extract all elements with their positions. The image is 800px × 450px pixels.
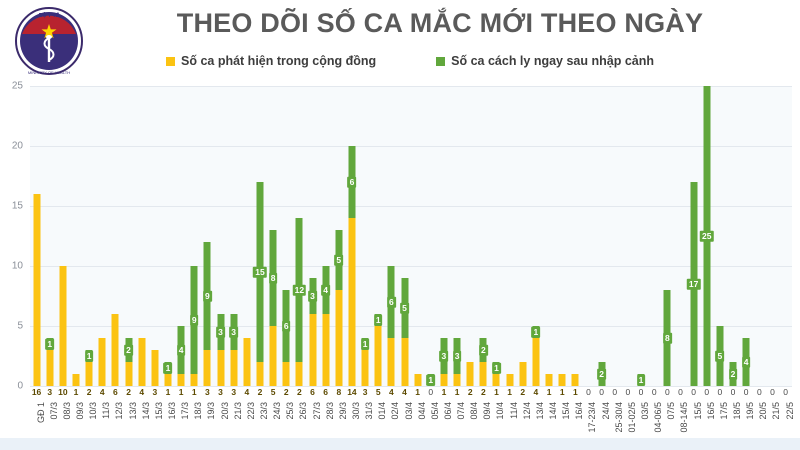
bar-value-label-quarantine: 9 [190, 315, 199, 326]
legend-label-community: Số ca phát hiện trong cộng đồng [181, 54, 376, 68]
bar-value-label-community: 1 [542, 386, 555, 398]
bar-segment-quarantine[interactable]: 3 [309, 278, 316, 314]
bar-column[interactable]: 3 [227, 86, 240, 386]
bar-stack[interactable]: 8 [664, 290, 671, 386]
bar-column[interactable] [135, 86, 148, 386]
bar-value-label-community: 2 [122, 386, 135, 398]
bar-segment-quarantine[interactable]: 6 [388, 266, 395, 338]
bar-segment-quarantine[interactable]: 1 [362, 338, 369, 350]
bar-value-label-community: 0 [687, 386, 700, 398]
bar-value-label-quarantine: 25 [700, 231, 713, 242]
footer-band [0, 438, 800, 450]
bar-value-label-quarantine: 1 [426, 375, 435, 386]
logo-text-bottom: MINISTRY OF HEALTH [28, 70, 70, 75]
bar-column[interactable]: 15 [253, 86, 266, 386]
bar-segment-quarantine[interactable]: 9 [204, 242, 211, 350]
bar-value-label-quarantine: 2 [479, 345, 488, 356]
bar-column[interactable]: 1 [490, 86, 503, 386]
bar-segment-community[interactable] [572, 374, 579, 386]
bar-value-label-community: 0 [621, 386, 634, 398]
bar-segment-community[interactable] [164, 374, 171, 386]
bar-stack[interactable]: 6 [388, 266, 395, 386]
y-axis: 0510152025 [0, 86, 26, 386]
bar-column[interactable] [542, 86, 555, 386]
bar-column[interactable] [30, 86, 43, 386]
bar-value-label-quarantine: 1 [164, 363, 173, 374]
bar-column[interactable] [96, 86, 109, 386]
bar-segment-community[interactable] [388, 338, 395, 386]
bar-value-label-quarantine: 9 [203, 291, 212, 302]
bar-value-label-community: 1 [69, 386, 82, 398]
bar-segment-community[interactable] [309, 314, 316, 386]
bar-segment-community[interactable] [506, 374, 513, 386]
bar-value-label-quarantine: 2 [124, 345, 133, 356]
bar-value-label-community: 2 [516, 386, 529, 398]
bar-column[interactable]: 6 [385, 86, 398, 386]
bar-value-row: 1631012462431113334252266814354410112211… [30, 386, 792, 398]
bar-value-label-quarantine: 3 [229, 327, 238, 338]
bar-segment-quarantine[interactable]: 9 [191, 266, 198, 374]
bar-column[interactable] [69, 86, 82, 386]
bar-value-label-community: 3 [227, 386, 240, 398]
ministry-of-health-vietnam-logo: BỘ Y TẾ MINISTRY OF HEALTH [12, 4, 86, 78]
bar-column[interactable]: 8 [661, 86, 674, 386]
bar-value-label-community: 1 [175, 386, 188, 398]
bar-stack[interactable]: 5 [716, 326, 723, 386]
bar-stack[interactable] [519, 362, 526, 386]
bar-segment-quarantine[interactable]: 8 [270, 230, 277, 326]
bar-value-label-quarantine: 1 [45, 339, 54, 350]
bar-column[interactable] [516, 86, 529, 386]
legend-swatch-community [166, 57, 175, 66]
bar-value-label-community: 4 [529, 386, 542, 398]
bar-value-label-quarantine: 1 [85, 351, 94, 362]
bar-value-label-community: 0 [634, 386, 647, 398]
bar-segment-community[interactable] [230, 350, 237, 386]
bar-value-label-quarantine: 6 [387, 297, 396, 308]
bar-value-label-quarantine: 1 [637, 375, 646, 386]
bar-column[interactable]: 5 [332, 86, 345, 386]
bar-segment-community[interactable] [440, 374, 447, 386]
bar-segment-community[interactable] [46, 350, 53, 386]
plot-area: 112149933158612345611651332112181725524 [30, 86, 792, 386]
bar-value-label-community: 3 [201, 386, 214, 398]
bar-column[interactable] [766, 86, 779, 386]
bar-column[interactable]: 1 [83, 86, 96, 386]
bar-stack[interactable]: 1 [164, 362, 171, 386]
bar-segment-quarantine[interactable]: 3 [440, 338, 447, 374]
bar-column[interactable] [148, 86, 161, 386]
bar-value-label-quarantine: 15 [253, 267, 266, 278]
bar-stack[interactable]: 3 [217, 314, 224, 386]
bar-column[interactable]: 9 [188, 86, 201, 386]
bar-stack[interactable] [243, 338, 250, 386]
bar-stack[interactable] [112, 314, 119, 386]
bar-value-label-community: 3 [43, 386, 56, 398]
bar-value-label-community: 0 [608, 386, 621, 398]
bar-value-label-quarantine: 3 [453, 351, 462, 362]
bar-value-label-community: 4 [96, 386, 109, 398]
bar-stack[interactable]: 6 [348, 146, 355, 386]
bar-value-label-community: 4 [135, 386, 148, 398]
bar-column[interactable] [569, 86, 582, 386]
bar-segment-quarantine[interactable]: 5 [335, 230, 342, 290]
bar-column[interactable] [109, 86, 122, 386]
bar-column[interactable] [674, 86, 687, 386]
bar-segment-quarantine[interactable]: 1 [164, 362, 171, 374]
bar-segment-quarantine[interactable]: 4 [322, 266, 329, 314]
bar-column[interactable]: 4 [319, 86, 332, 386]
bar-segment-community[interactable] [375, 326, 382, 386]
bar-column[interactable] [621, 86, 634, 386]
bar-stack[interactable]: 3 [309, 278, 316, 386]
bar-segment-community[interactable] [33, 194, 40, 386]
bar-column[interactable]: 1 [43, 86, 56, 386]
x-axis-tick-label: 22/5 [786, 402, 795, 420]
bar-stack[interactable]: 1 [46, 338, 53, 386]
bar-stack[interactable]: 17 [690, 182, 697, 386]
bar-segment-community[interactable] [178, 374, 185, 386]
bar-value-label-quarantine: 3 [308, 291, 317, 302]
bar-stack[interactable] [99, 338, 106, 386]
bar-value-label-quarantine: 6 [282, 321, 291, 332]
bar-value-label-community: 16 [30, 386, 43, 398]
bar-segment-quarantine[interactable]: 1 [493, 362, 500, 374]
bar-stack[interactable] [506, 374, 513, 386]
bar-value-label-community: 1 [188, 386, 201, 398]
bar-column[interactable]: 9 [201, 86, 214, 386]
chart-legend: Số ca phát hiện trong cộng đồng Số ca cá… [90, 54, 730, 68]
bar-column[interactable]: 2 [122, 86, 135, 386]
bar-segment-community[interactable] [296, 362, 303, 386]
bar-value-label-community: 3 [359, 386, 372, 398]
bar-segment-quarantine[interactable]: 3 [454, 338, 461, 374]
bar-column[interactable]: 1 [161, 86, 174, 386]
bar-column[interactable] [556, 86, 569, 386]
bar-stack[interactable]: 9 [204, 242, 211, 386]
bar-stack[interactable]: 1 [493, 362, 500, 386]
bar-value-label-quarantine: 1 [492, 363, 501, 374]
bar-stack[interactable] [138, 338, 145, 386]
bar-segment-community[interactable] [493, 374, 500, 386]
bar-value-label-quarantine: 4 [321, 285, 330, 296]
bar-value-label-community: 4 [385, 386, 398, 398]
bar-segment-quarantine[interactable]: 1 [375, 314, 382, 326]
bar-stack[interactable] [559, 374, 566, 386]
bar-stack[interactable] [414, 374, 421, 386]
bar-column[interactable] [608, 86, 621, 386]
bar-segment-community[interactable] [454, 374, 461, 386]
bar-stack[interactable] [33, 194, 40, 386]
bar-stack[interactable]: 15 [256, 182, 263, 386]
y-tick-label-10: 10 [12, 261, 23, 272]
bar-stack[interactable] [467, 362, 474, 386]
bar-column[interactable]: 1 [359, 86, 372, 386]
bar-segment-community[interactable] [362, 350, 369, 386]
legend-item-quarantine: Số ca cách ly ngay sau nhập cảnh [436, 54, 654, 68]
bar-segment-community[interactable] [138, 338, 145, 386]
bar-column[interactable] [779, 86, 792, 386]
bar-segment-community[interactable] [322, 314, 329, 386]
bar-segment-community[interactable] [243, 338, 250, 386]
bar-value-label-community: 6 [109, 386, 122, 398]
bar-value-label-community: 2 [280, 386, 293, 398]
bar-value-label-community: 1 [451, 386, 464, 398]
bar-value-label-community: 6 [319, 386, 332, 398]
bar-segment-quarantine[interactable]: 1 [532, 326, 539, 338]
y-tick-label-20: 20 [12, 141, 23, 152]
bar-segment-quarantine[interactable]: 2 [480, 338, 487, 362]
bar-value-label-community: 1 [569, 386, 582, 398]
bar-value-label-community: 0 [595, 386, 608, 398]
bar-segment-community[interactable] [151, 350, 158, 386]
bar-segment-community[interactable] [217, 350, 224, 386]
bar-column[interactable]: 1 [424, 86, 437, 386]
bar-value-label-community: 3 [214, 386, 227, 398]
y-tick-label-15: 15 [12, 201, 23, 212]
bar-segment-quarantine[interactable]: 8 [664, 290, 671, 386]
bar-segment-quarantine[interactable]: 25 [703, 86, 710, 386]
bar-stack[interactable]: 4 [178, 326, 185, 386]
bar-value-label-community: 2 [464, 386, 477, 398]
bar-segment-community[interactable] [99, 338, 106, 386]
bar-stack[interactable] [72, 374, 79, 386]
bar-value-label-community: 1 [490, 386, 503, 398]
bar-value-label-community: 0 [726, 386, 739, 398]
bar-stack[interactable]: 5 [401, 278, 408, 386]
bar-segment-quarantine[interactable]: 5 [401, 278, 408, 338]
bar-value-label-quarantine: 2 [729, 369, 738, 380]
bar-value-label-community: 1 [556, 386, 569, 398]
logo-text-top: BỘ Y TẾ [39, 11, 60, 19]
bar-segment-quarantine[interactable]: 1 [86, 350, 93, 362]
bar-stack[interactable]: 1 [86, 350, 93, 386]
bar-value-label-quarantine: 5 [334, 255, 343, 266]
bar-stack[interactable]: 4 [322, 266, 329, 386]
bar-value-label-community: 1 [503, 386, 516, 398]
bar-stack[interactable]: 8 [270, 230, 277, 386]
chart-page: BỘ Y TẾ MINISTRY OF HEALTH THEO DÕI SỐ C… [0, 0, 800, 450]
bar-column[interactable] [503, 86, 516, 386]
bar-segment-community[interactable] [256, 362, 263, 386]
bar-segment-community[interactable] [414, 374, 421, 386]
bar-segment-quarantine[interactable]: 6 [283, 290, 290, 362]
bar-value-label-community: 5 [372, 386, 385, 398]
bar-column[interactable]: 3 [306, 86, 319, 386]
bar-column[interactable]: 2 [726, 86, 739, 386]
bar-value-label-quarantine: 12 [293, 285, 306, 296]
bar-stack[interactable]: 1 [375, 314, 382, 386]
bar-segment-community[interactable] [480, 362, 487, 386]
bar-segment-community[interactable] [348, 218, 355, 386]
bar-value-label-quarantine: 5 [716, 351, 725, 362]
bar-column[interactable]: 1 [372, 86, 385, 386]
bar-column[interactable]: 3 [437, 86, 450, 386]
bar-value-label-community: 2 [477, 386, 490, 398]
bar-segment-community[interactable] [59, 266, 66, 386]
bar-value-label-quarantine: 6 [348, 177, 357, 188]
bar-segment-community[interactable] [283, 362, 290, 386]
y-tick-label-0: 0 [17, 381, 23, 392]
bar-value-label-community: 0 [582, 386, 595, 398]
bar-value-label-community: 3 [148, 386, 161, 398]
bar-segment-quarantine[interactable]: 1 [46, 338, 53, 350]
bar-value-label-quarantine: 3 [440, 351, 449, 362]
bar-value-label-quarantine: 1 [361, 339, 370, 350]
bar-segment-quarantine[interactable]: 3 [230, 314, 237, 350]
bar-segment-quarantine[interactable]: 1 [638, 374, 645, 386]
bar-value-label-quarantine: 17 [687, 279, 700, 290]
bar-stack[interactable]: 3 [230, 314, 237, 386]
bar-stack[interactable]: 1 [427, 374, 434, 386]
bar-stack[interactable]: 1 [638, 374, 645, 386]
bar-value-label-community: 4 [398, 386, 411, 398]
bar-stack[interactable]: 9 [191, 266, 198, 386]
y-tick-label-25: 25 [12, 81, 23, 92]
bar-segment-quarantine[interactable]: 2 [730, 362, 737, 386]
bar-value-label-community: 10 [56, 386, 69, 398]
bar-stack[interactable] [546, 374, 553, 386]
bar-value-label-quarantine: 2 [597, 369, 606, 380]
bar-column[interactable] [411, 86, 424, 386]
page-title: THEO DÕI SỐ CA MẮC MỚI THEO NGÀY [90, 8, 790, 39]
bar-column[interactable]: 2 [477, 86, 490, 386]
bar-segment-community[interactable] [270, 326, 277, 386]
bar-column[interactable]: 2 [595, 86, 608, 386]
bar-stack[interactable]: 3 [440, 338, 447, 386]
bar-stack[interactable]: 5 [335, 230, 342, 386]
bar-segment-community[interactable] [546, 374, 553, 386]
bar-value-label-quarantine: 1 [374, 315, 383, 326]
bar-column[interactable]: 8 [267, 86, 280, 386]
bar-column[interactable]: 17 [687, 86, 700, 386]
bar-segment-community[interactable] [559, 374, 566, 386]
bar-segment-quarantine[interactable]: 4 [743, 338, 750, 386]
bar-column[interactable]: 4 [740, 86, 753, 386]
bar-column[interactable] [240, 86, 253, 386]
bar-stack[interactable] [572, 374, 579, 386]
bar-stack[interactable]: 1 [362, 338, 369, 386]
bar-value-label-community: 8 [332, 386, 345, 398]
bar-value-label-community: 14 [345, 386, 358, 398]
bar-stack[interactable]: 2 [125, 338, 132, 386]
bar-value-label-community: 1 [411, 386, 424, 398]
bar-value-label-community: 2 [293, 386, 306, 398]
bar-stack[interactable]: 2 [730, 362, 737, 386]
bar-value-label-community: 4 [240, 386, 253, 398]
bar-stack[interactable] [151, 350, 158, 386]
bar-stack[interactable]: 1 [532, 326, 539, 386]
bar-stack[interactable]: 2 [598, 362, 605, 386]
bar-segment-quarantine[interactable]: 4 [178, 326, 185, 374]
bar-value-label-community: 0 [740, 386, 753, 398]
logo-svg: BỘ Y TẾ MINISTRY OF HEALTH [12, 4, 86, 78]
bar-value-label-community: 0 [779, 386, 792, 398]
bar-column[interactable]: 12 [293, 86, 306, 386]
bar-segment-quarantine[interactable]: 15 [256, 182, 263, 362]
bar-stack[interactable]: 2 [480, 338, 487, 386]
bar-series-container: 112149933158612345611651332112181725524 [30, 86, 792, 386]
bar-value-label-quarantine: 4 [177, 345, 186, 356]
bar-segment-community[interactable] [204, 350, 211, 386]
bar-segment-community[interactable] [125, 362, 132, 386]
bar-value-label-community: 0 [424, 386, 437, 398]
bar-segment-community[interactable] [191, 374, 198, 386]
bar-column[interactable]: 6 [280, 86, 293, 386]
legend-swatch-quarantine [436, 57, 445, 66]
bar-column[interactable]: 5 [398, 86, 411, 386]
bar-column[interactable] [582, 86, 595, 386]
bar-segment-quarantine[interactable]: 1 [427, 374, 434, 386]
bar-value-label-community: 0 [674, 386, 687, 398]
bar-value-label-quarantine: 3 [216, 327, 225, 338]
y-tick-label-5: 5 [17, 321, 23, 332]
bar-value-label-community: 2 [253, 386, 266, 398]
bar-segment-community[interactable] [401, 338, 408, 386]
bar-column[interactable]: 3 [214, 86, 227, 386]
bar-segment-community[interactable] [519, 362, 526, 386]
bar-stack[interactable]: 4 [743, 338, 750, 386]
bar-segment-quarantine[interactable]: 2 [125, 338, 132, 362]
bar-column[interactable]: 5 [713, 86, 726, 386]
bar-segment-community[interactable] [112, 314, 119, 386]
bar-stack[interactable]: 6 [283, 290, 290, 386]
bar-segment-quarantine[interactable]: 6 [348, 146, 355, 218]
bar-value-label-community: 0 [753, 386, 766, 398]
bar-column[interactable] [56, 86, 69, 386]
bar-value-label-quarantine: 1 [532, 327, 541, 338]
bar-value-label-community: 0 [766, 386, 779, 398]
bar-value-label-community: 1 [161, 386, 174, 398]
bar-column[interactable]: 4 [175, 86, 188, 386]
bar-stack[interactable] [59, 266, 66, 386]
bar-segment-quarantine[interactable]: 17 [690, 182, 697, 386]
bar-value-label-community: 6 [306, 386, 319, 398]
bar-segment-quarantine[interactable]: 5 [716, 326, 723, 386]
bar-segment-community[interactable] [532, 338, 539, 386]
bar-stack[interactable]: 3 [454, 338, 461, 386]
bar-column[interactable]: 1 [634, 86, 647, 386]
bar-value-label-community: 0 [713, 386, 726, 398]
bar-column[interactable] [648, 86, 661, 386]
bar-segment-quarantine[interactable]: 3 [217, 314, 224, 350]
bar-column[interactable]: 25 [700, 86, 713, 386]
bar-segment-quarantine[interactable]: 2 [598, 362, 605, 386]
bar-stack[interactable]: 12 [296, 218, 303, 386]
bar-segment-community[interactable] [467, 362, 474, 386]
bar-segment-quarantine[interactable]: 12 [296, 218, 303, 362]
bar-column[interactable] [753, 86, 766, 386]
bar-stack[interactable]: 25 [703, 86, 710, 386]
bar-segment-community[interactable] [335, 290, 342, 386]
bar-value-label-community: 0 [661, 386, 674, 398]
bar-value-label-community: 0 [648, 386, 661, 398]
bar-value-label-quarantine: 5 [400, 303, 409, 314]
bar-value-label-community: 1 [437, 386, 450, 398]
bar-column[interactable] [464, 86, 477, 386]
bar-segment-community[interactable] [72, 374, 79, 386]
bar-column[interactable]: 6 [345, 86, 358, 386]
bar-value-label-community: 0 [700, 386, 713, 398]
bar-segment-community[interactable] [86, 362, 93, 386]
bar-value-label-community: 5 [267, 386, 280, 398]
bar-column[interactable]: 1 [529, 86, 542, 386]
bar-value-label-quarantine: 8 [269, 273, 278, 284]
legend-label-quarantine: Số ca cách ly ngay sau nhập cảnh [451, 54, 654, 68]
bar-value-label-community: 2 [83, 386, 96, 398]
bar-column[interactable]: 3 [451, 86, 464, 386]
legend-item-community: Số ca phát hiện trong cộng đồng [166, 54, 376, 68]
